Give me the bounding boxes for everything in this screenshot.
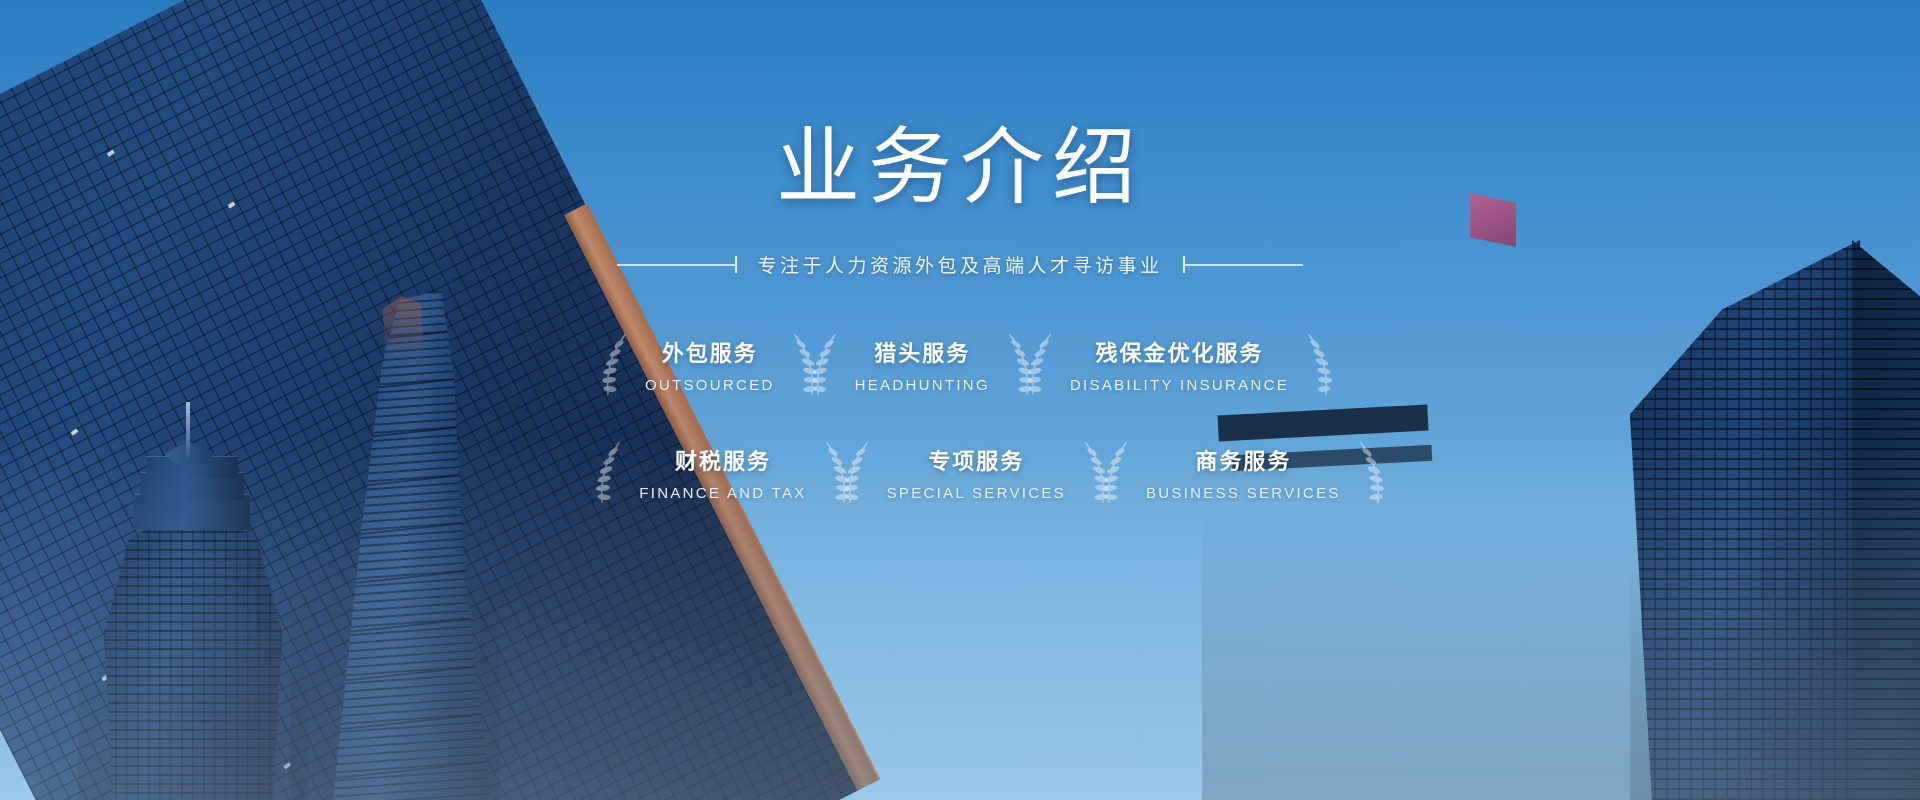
banner-content: 业务介绍 专注于人力资源外包及高端人才寻访事业	[0, 0, 1920, 800]
service-name-en: FINANCE AND TAX	[639, 485, 806, 502]
laurel-branch-right-icon	[1357, 440, 1387, 506]
laurel-branch-left-icon	[593, 440, 623, 506]
laurel-branch-left-icon	[841, 440, 871, 506]
services-row-2: 财税服务 FINANCE AND TAX	[599, 438, 1380, 508]
service-name-en: DISABILITY INSURANCE	[1070, 377, 1289, 394]
service-item-business-services[interactable]: 商务服务 BUSINESS SERVICES	[1106, 438, 1381, 508]
rule-bar	[617, 264, 735, 266]
service-name-cn: 商务服务	[1195, 444, 1291, 476]
page-title: 业务介绍	[776, 125, 1144, 209]
laurel-branch-left-icon	[599, 332, 629, 398]
service-name-cn: 猎头服务	[874, 336, 970, 368]
laurel-branch-right-icon	[1305, 332, 1335, 398]
service-name-cn: 外包服务	[662, 336, 758, 368]
services-list: 外包服务 OUTSOURCED	[539, 330, 1380, 508]
services-row-1: 外包服务 OUTSOURCED	[553, 330, 1380, 400]
laurel-branch-left-icon	[1024, 332, 1054, 398]
divider-rule-left-icon	[617, 256, 737, 273]
service-name-cn: 残保金优化服务	[1095, 336, 1263, 368]
laurel-branch-left-icon	[809, 332, 839, 398]
rule-tick	[735, 256, 737, 273]
service-item-outsourced[interactable]: 外包服务 OUTSOURCED	[605, 330, 815, 400]
service-name-en: SPECIAL SERVICES	[887, 485, 1066, 502]
service-name-en: OUTSOURCED	[645, 377, 775, 394]
service-item-special-services[interactable]: 专项服务 SPECIAL SERVICES	[847, 438, 1106, 508]
service-item-headhunting[interactable]: 猎头服务 HEADHUNTING	[815, 330, 1030, 400]
laurel-branch-left-icon	[1100, 440, 1130, 506]
service-name-en: BUSINESS SERVICES	[1146, 485, 1341, 502]
service-item-disability-insurance[interactable]: 残保金优化服务 DISABILITY INSURANCE	[1030, 330, 1329, 400]
divider-rule-right-icon	[1183, 256, 1303, 273]
rule-bar	[1185, 264, 1303, 266]
page-subtitle: 专注于人力资源外包及高端人才寻访事业	[757, 251, 1162, 278]
service-name-cn: 财税服务	[675, 444, 771, 476]
service-item-finance-and-tax[interactable]: 财税服务 FINANCE AND TAX	[599, 438, 846, 508]
service-name-en: HEADHUNTING	[855, 377, 990, 394]
service-name-cn: 专项服务	[928, 444, 1024, 476]
subtitle-row: 专注于人力资源外包及高端人才寻访事业	[617, 251, 1302, 278]
business-intro-banner: 业务介绍 专注于人力资源外包及高端人才寻访事业	[0, 0, 1920, 800]
